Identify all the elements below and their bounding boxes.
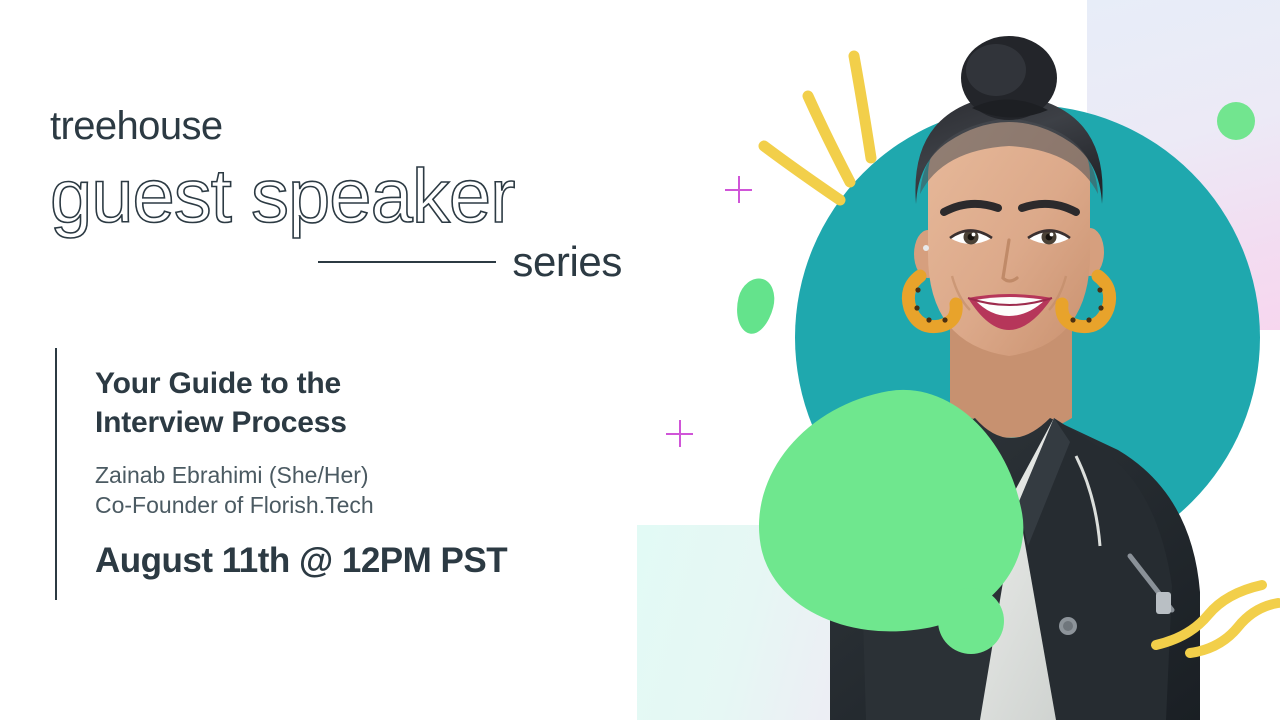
talk-title: Your Guide to the Interview Process (95, 364, 507, 442)
sparkle-rays-icon (740, 30, 930, 230)
squiggle-lines-icon (1150, 575, 1280, 685)
company-name: treehouse (50, 106, 660, 146)
event-details: Your Guide to the Interview Process Zain… (55, 348, 507, 600)
series-label: series (512, 241, 622, 283)
brand-lockup: treehouse guest speaker series (50, 106, 660, 283)
series-row: series (50, 241, 622, 283)
green-blob-icon-small (731, 274, 779, 337)
green-dot-icon-bottom (938, 588, 1004, 654)
plus-mark-icon-bottom (666, 420, 693, 447)
plus-mark-icon-top (725, 176, 752, 203)
talk-title-line-2: Interview Process (95, 403, 507, 442)
page-title: guest speaker (50, 154, 660, 239)
talk-title-line-1: Your Guide to the (95, 364, 507, 403)
speaker-name: Zainab Ebrahimi (She/Her) (95, 460, 507, 490)
event-datetime: August 11th @ 12PM PST (95, 543, 507, 578)
green-dot-icon-top (1217, 102, 1255, 140)
speaker-role: Co-Founder of Florish.Tech (95, 490, 507, 520)
promo-slide: treehouse guest speaker series Your Guid… (0, 0, 1280, 720)
series-divider-rule (318, 261, 496, 263)
